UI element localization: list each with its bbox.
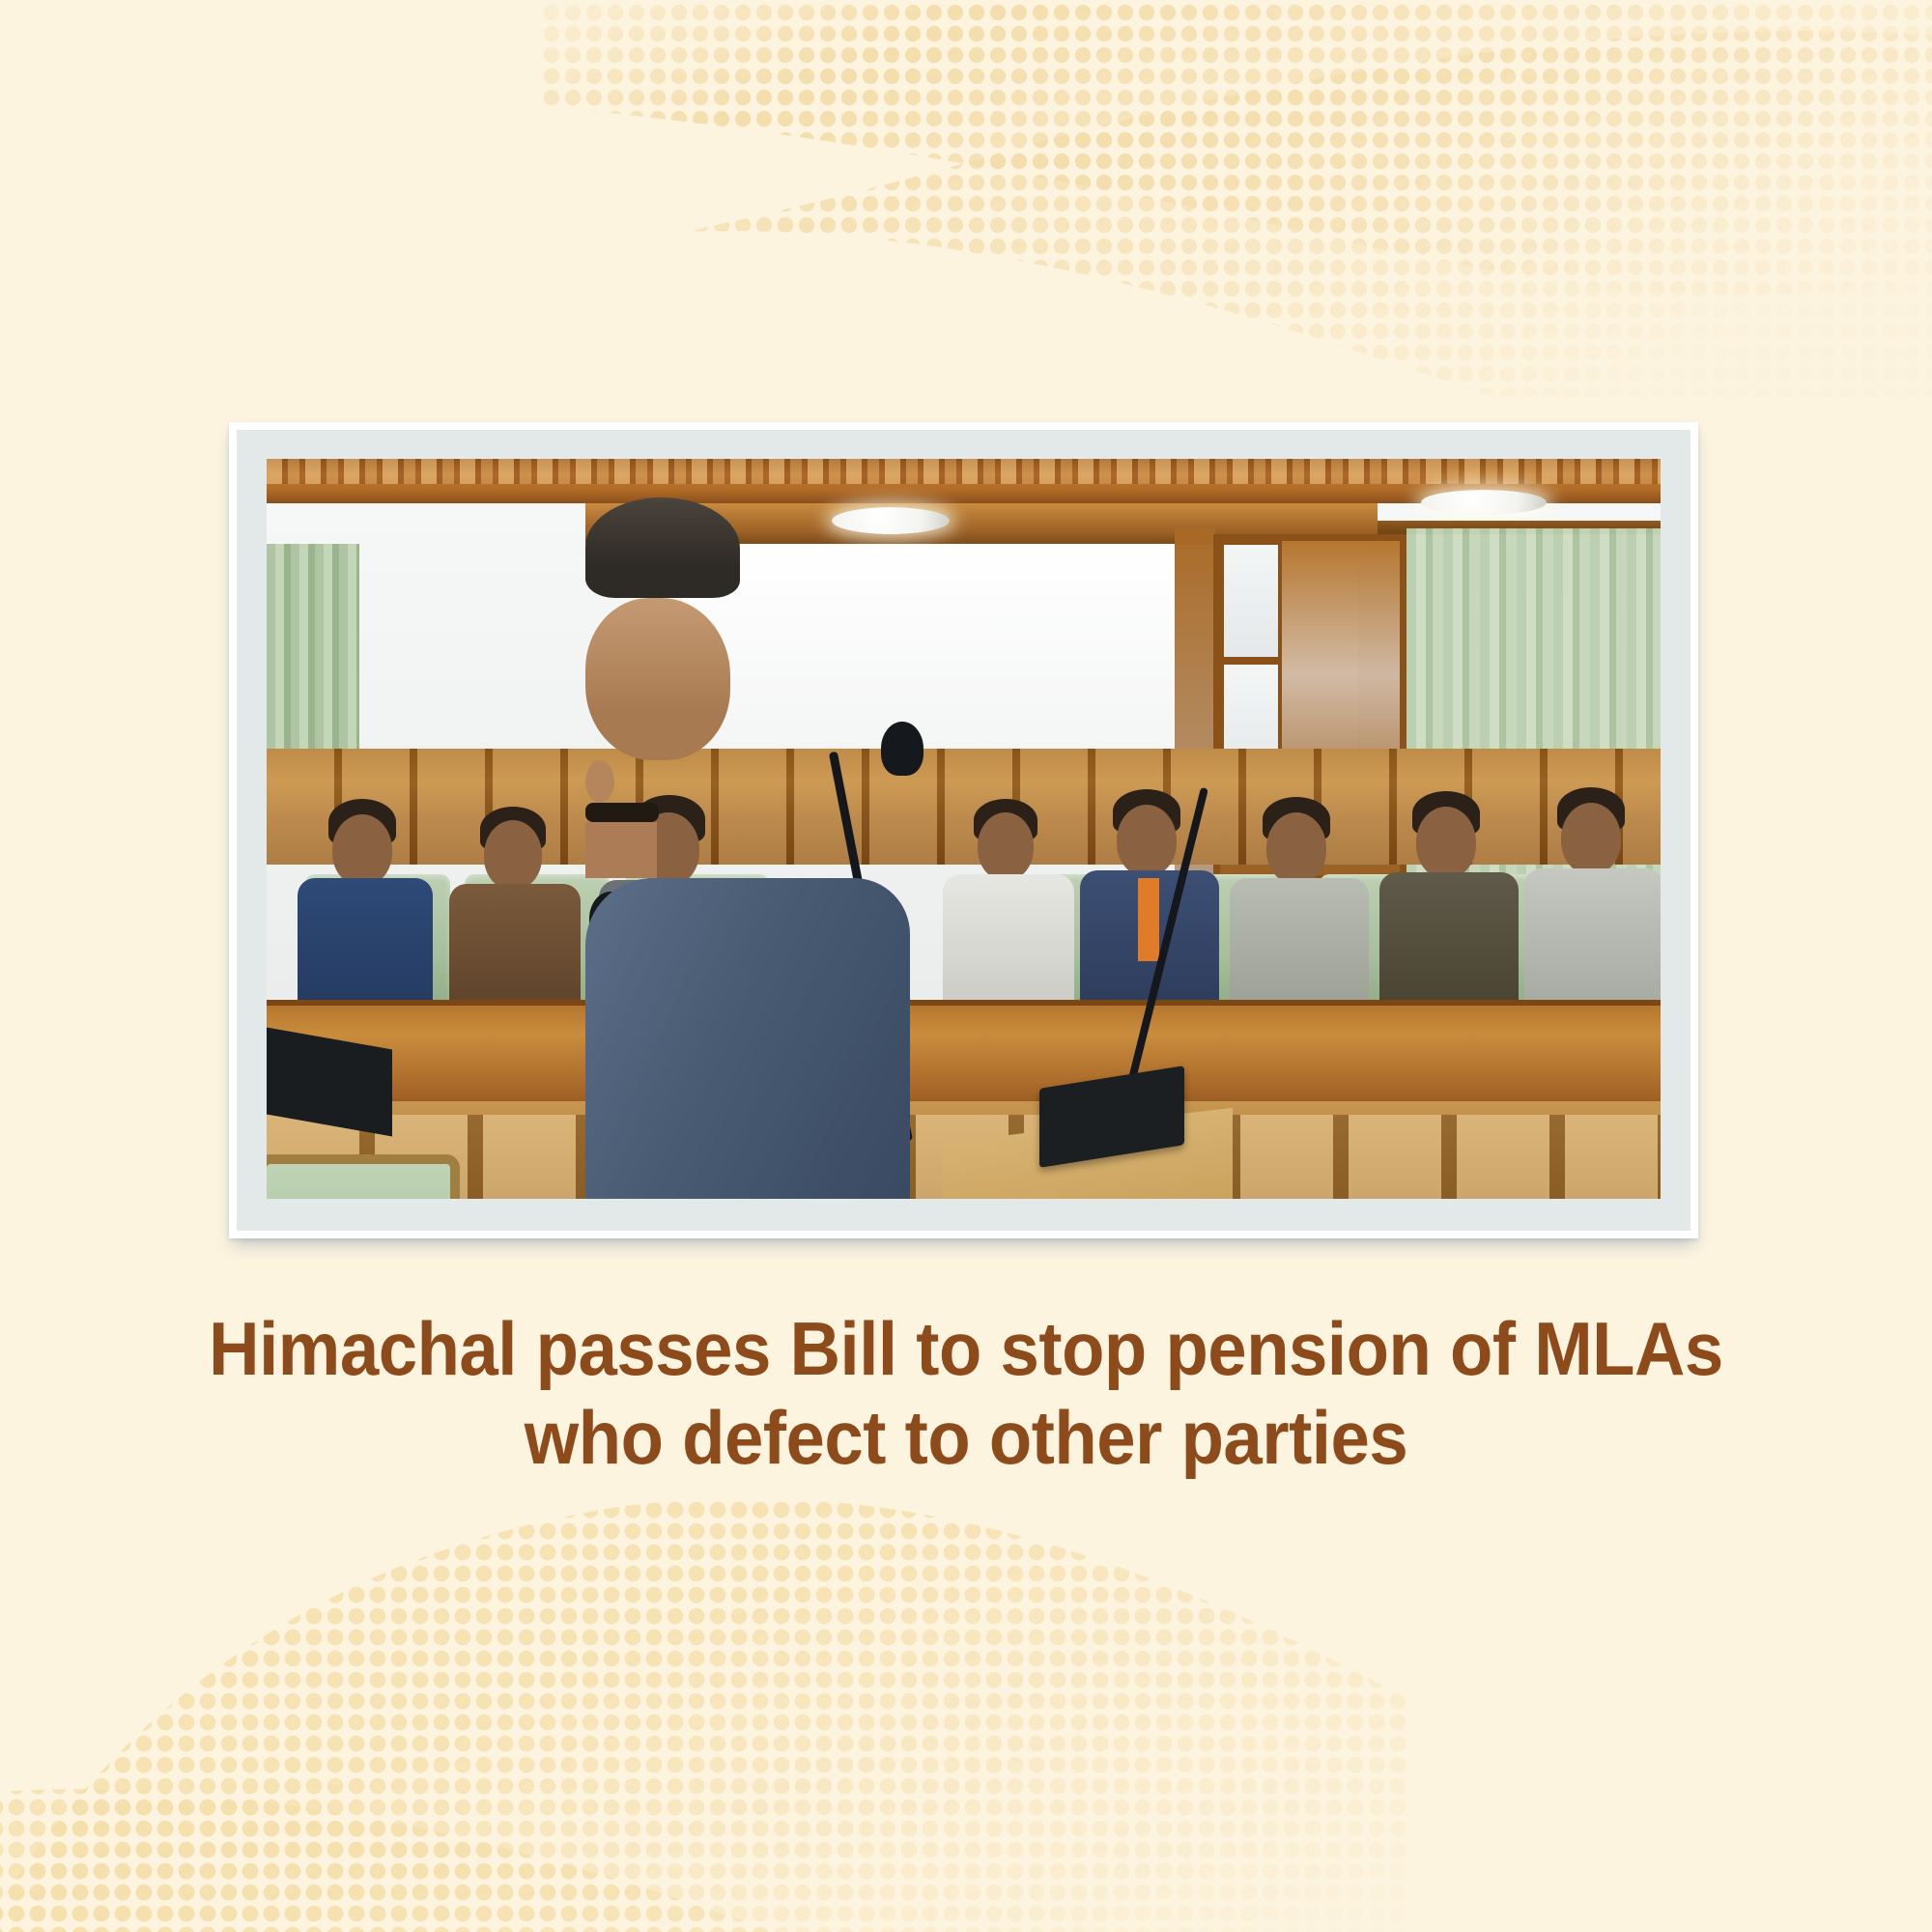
seated-member [1522, 787, 1661, 1021]
official-head [585, 598, 730, 760]
seated-member [1378, 791, 1522, 1021]
official-hair [585, 497, 740, 598]
headline-line-2: who defect to other parties [68, 1393, 1864, 1482]
halftone-wave-top-decoration [541, 0, 1932, 396]
headline-line-1: Himachal passes Bill to stop pension of … [68, 1304, 1864, 1393]
assembly-photograph [267, 459, 1661, 1199]
empty-chair [267, 1154, 460, 1199]
photo-frame [229, 422, 1698, 1238]
official-ear [585, 760, 614, 803]
official-moustache [585, 803, 659, 822]
seated-member [296, 799, 440, 1021]
photo-mat [237, 430, 1690, 1231]
official-neck [585, 822, 657, 878]
door-glass-pane [1220, 541, 1282, 661]
halftone-wave-bottom-decoration [0, 1478, 1410, 1932]
speaking-official [585, 497, 1001, 1199]
news-poster: Himachal passes Bill to stop pension of … [0, 0, 1932, 1932]
seated-member [445, 807, 590, 1019]
official-jacket [585, 878, 910, 1199]
seated-member [1228, 797, 1373, 1021]
ceiling-light-icon [1421, 490, 1547, 515]
headline: Himachal passes Bill to stop pension of … [68, 1304, 1864, 1482]
